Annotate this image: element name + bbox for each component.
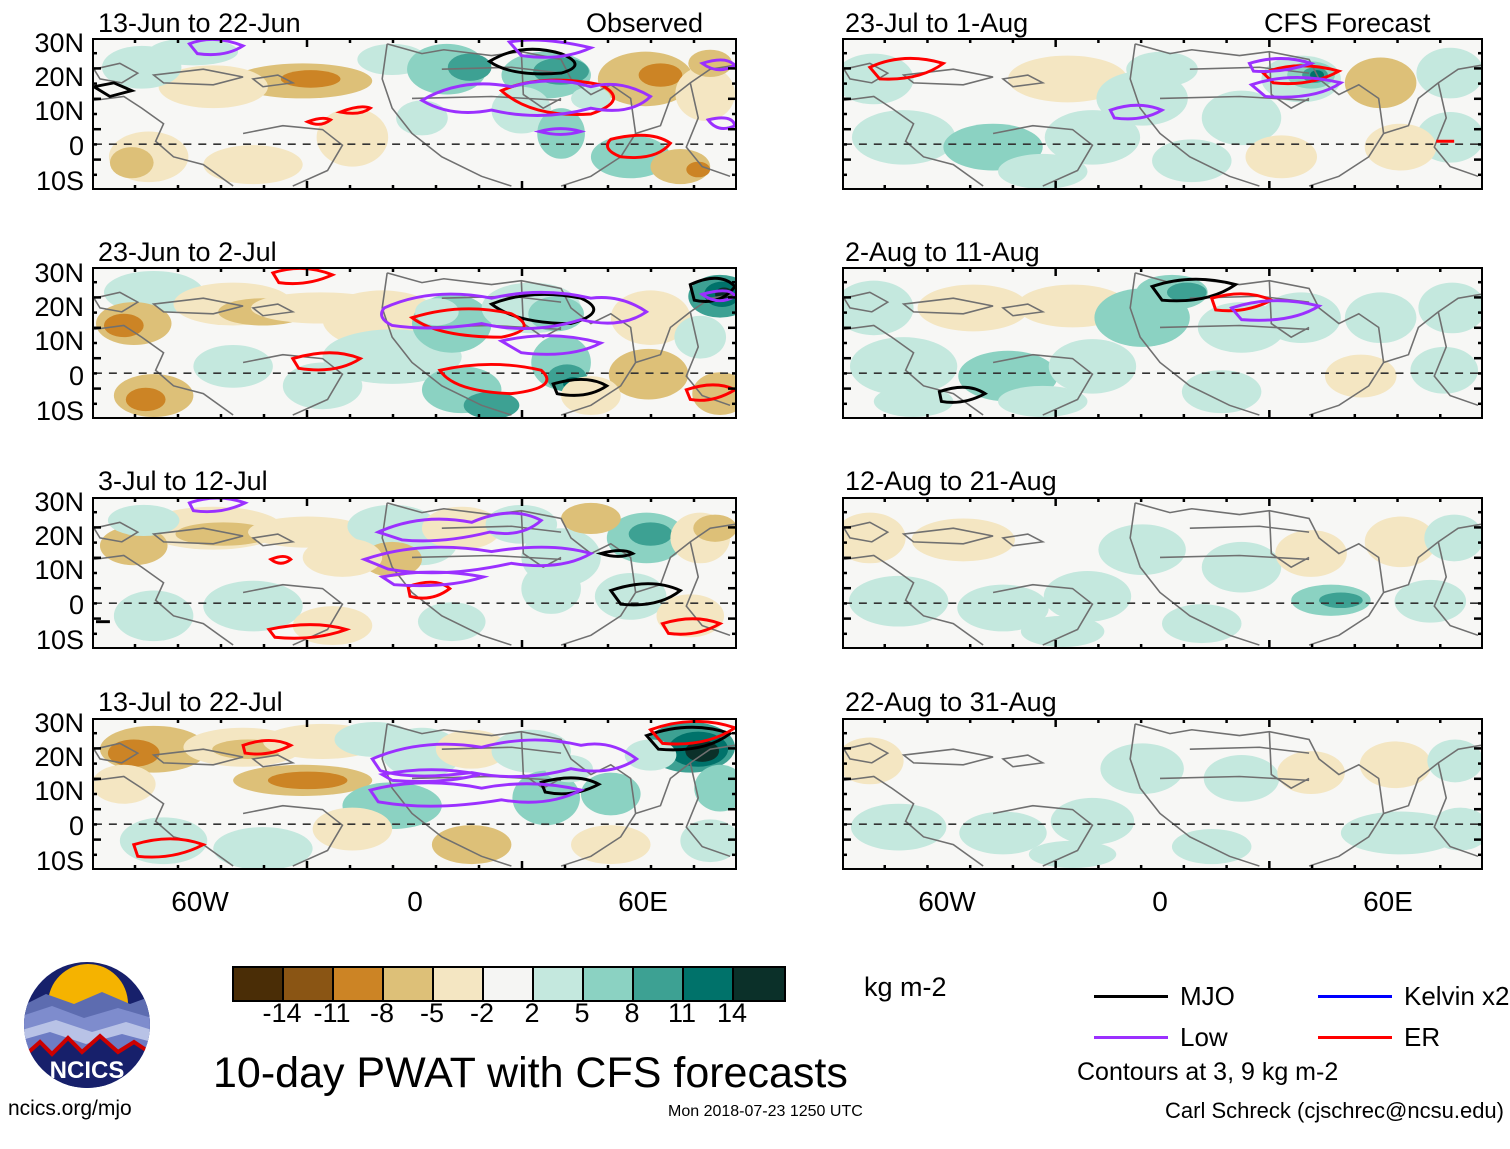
logo-svg: NCICS: [22, 960, 152, 1090]
y-tick-10s: 10S: [0, 627, 84, 654]
colorbar-swatch-7: [584, 968, 634, 1000]
x-tick-60w-right: 60W: [892, 888, 1002, 916]
map-panel-forecast-2[interactable]: [842, 267, 1483, 419]
map-svg: [844, 40, 1481, 188]
colorbar-swatch-8: [634, 968, 684, 1000]
colorbar-swatch-1: [284, 968, 334, 1000]
map-panel-forecast-4[interactable]: [842, 718, 1483, 870]
legend-line-kelvin: [1318, 995, 1392, 998]
panel-title-left-4: 13-Jul to 22-Jul: [98, 689, 283, 716]
y-tick-10n: 10N: [0, 328, 84, 355]
colorbar-swatch-3: [384, 968, 434, 1000]
y-tick-10s: 10S: [0, 168, 84, 195]
map-panel-observed-1[interactable]: [92, 38, 737, 190]
map-svg: [94, 720, 735, 868]
y-tick-10s: 10S: [0, 398, 84, 425]
colorbar-units-label: kg m-2: [864, 974, 947, 1001]
y-tick-0: 0: [0, 813, 84, 840]
site-url[interactable]: ncics.org/mjo: [8, 1098, 132, 1119]
colorbar-tick-14: 14: [702, 1000, 762, 1027]
page-title: 10-day PWAT with CFS forecasts: [213, 1052, 848, 1095]
panel-title-left-1: 13-Jun to 22-Jun: [98, 10, 301, 37]
y-tick-30n: 30N: [0, 260, 84, 287]
map-panel-forecast-3[interactable]: [842, 497, 1483, 649]
y-tick-10n: 10N: [0, 778, 84, 805]
x-tick-60e-right: 60E: [1333, 888, 1443, 916]
x-tick-60e-left: 60E: [588, 888, 698, 916]
legend-label-mjo: MJO: [1180, 983, 1235, 1009]
y-tick-20n: 20N: [0, 744, 84, 771]
y-tick-20n: 20N: [0, 294, 84, 321]
map-svg: [844, 720, 1481, 868]
panel-title-right-1: 23-Jul to 1-Aug: [845, 10, 1028, 37]
legend-line-mjo: [1094, 995, 1168, 998]
map-svg: [844, 269, 1481, 417]
y-tick-0: 0: [0, 133, 84, 160]
y-tick-20n: 20N: [0, 523, 84, 550]
colorbar-swatch-0: [234, 968, 284, 1000]
map-svg: [844, 499, 1481, 647]
y-tick-20n: 20N: [0, 64, 84, 91]
panel-title-left-3: 3-Jul to 12-Jul: [98, 468, 268, 495]
map-svg: [94, 499, 735, 647]
y-tick-30n: 30N: [0, 30, 84, 57]
x-tick-60w-left: 60W: [145, 888, 255, 916]
y-tick-30n: 30N: [0, 489, 84, 516]
panel-title-right-3: 12-Aug to 21-Aug: [845, 468, 1057, 495]
timestamp: Mon 2018-07-23 1250 UTC: [668, 1104, 863, 1120]
map-svg: [94, 269, 735, 417]
legend-line-er: [1318, 1036, 1392, 1039]
legend-label-er: ER: [1404, 1024, 1440, 1050]
author-credit: Carl Schreck (cjschrec@ncsu.edu): [1165, 1100, 1504, 1122]
map-panel-observed-3[interactable]: [92, 497, 737, 649]
map-svg: [94, 40, 735, 188]
panel-title-right-2: 2-Aug to 11-Aug: [845, 239, 1040, 266]
colorbar-swatch-5: [484, 968, 534, 1000]
y-tick-30n: 30N: [0, 710, 84, 737]
colorbar-swatch-2: [334, 968, 384, 1000]
y-tick-10n: 10N: [0, 557, 84, 584]
y-tick-0: 0: [0, 363, 84, 390]
y-tick-10n: 10N: [0, 98, 84, 125]
y-tick-10s: 10S: [0, 848, 84, 875]
contour-levels-note: Contours at 3, 9 kg m-2: [1077, 1060, 1338, 1085]
map-panel-forecast-1[interactable]: [842, 38, 1483, 190]
column-header-observed: Observed: [586, 10, 703, 37]
panel-title-right-4: 22-Aug to 31-Aug: [845, 689, 1057, 716]
colorbar-swatch-9: [684, 968, 734, 1000]
legend-label-kelvin: Kelvin x2: [1404, 983, 1510, 1009]
colorbar-swatch-4: [434, 968, 484, 1000]
legend-line-low: [1094, 1036, 1168, 1039]
x-tick-0-right: 0: [1115, 888, 1205, 916]
colorbar[interactable]: [232, 966, 786, 1002]
logo-text: NCICS: [50, 1057, 125, 1084]
colorbar-swatch-10: [734, 968, 784, 1000]
map-panel-observed-2[interactable]: [92, 267, 737, 419]
x-tick-0-left: 0: [370, 888, 460, 916]
y-tick-0: 0: [0, 592, 84, 619]
colorbar-swatch-6: [534, 968, 584, 1000]
column-header-cfs-forecast: CFS Forecast: [1264, 10, 1431, 37]
legend-label-low: Low: [1180, 1024, 1228, 1050]
ncics-logo[interactable]: NCICS: [22, 960, 152, 1090]
map-panel-observed-4[interactable]: [92, 718, 737, 870]
panel-title-left-2: 23-Jun to 2-Jul: [98, 239, 277, 266]
